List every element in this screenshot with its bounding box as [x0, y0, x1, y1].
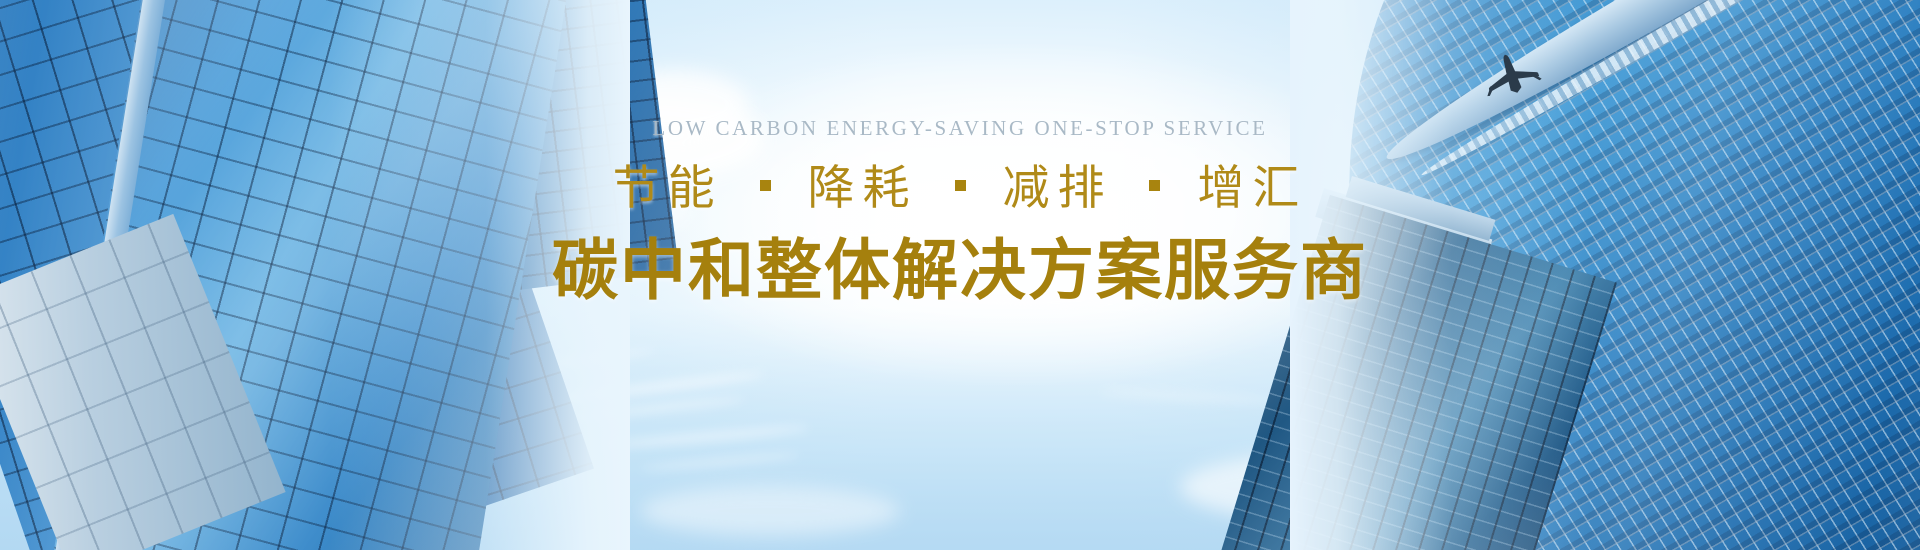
subtitle-word-4: 增汇	[1197, 165, 1307, 212]
cloud	[640, 486, 900, 536]
hero-banner: LOW CARBON ENERGY-SAVING ONE-STOP SERVIC…	[0, 0, 1920, 550]
banner-headline: 碳中和整体解决方案服务商	[0, 238, 1920, 304]
subtitle-word-2: 降耗	[808, 165, 918, 212]
subtitle-separator-icon	[1149, 180, 1160, 191]
airplane-icon	[1478, 48, 1550, 104]
banner-subtitle: 节能 降耗 减排 增汇	[0, 165, 1920, 212]
banner-copy: LOW CARBON ENERGY-SAVING ONE-STOP SERVIC…	[0, 118, 1920, 304]
subtitle-word-3: 减排	[1002, 165, 1112, 212]
subtitle-word-1: 节能	[613, 165, 723, 212]
subtitle-separator-icon	[955, 180, 966, 191]
banner-eyebrow: LOW CARBON ENERGY-SAVING ONE-STOP SERVIC…	[0, 118, 1920, 139]
subtitle-separator-icon	[760, 180, 771, 191]
